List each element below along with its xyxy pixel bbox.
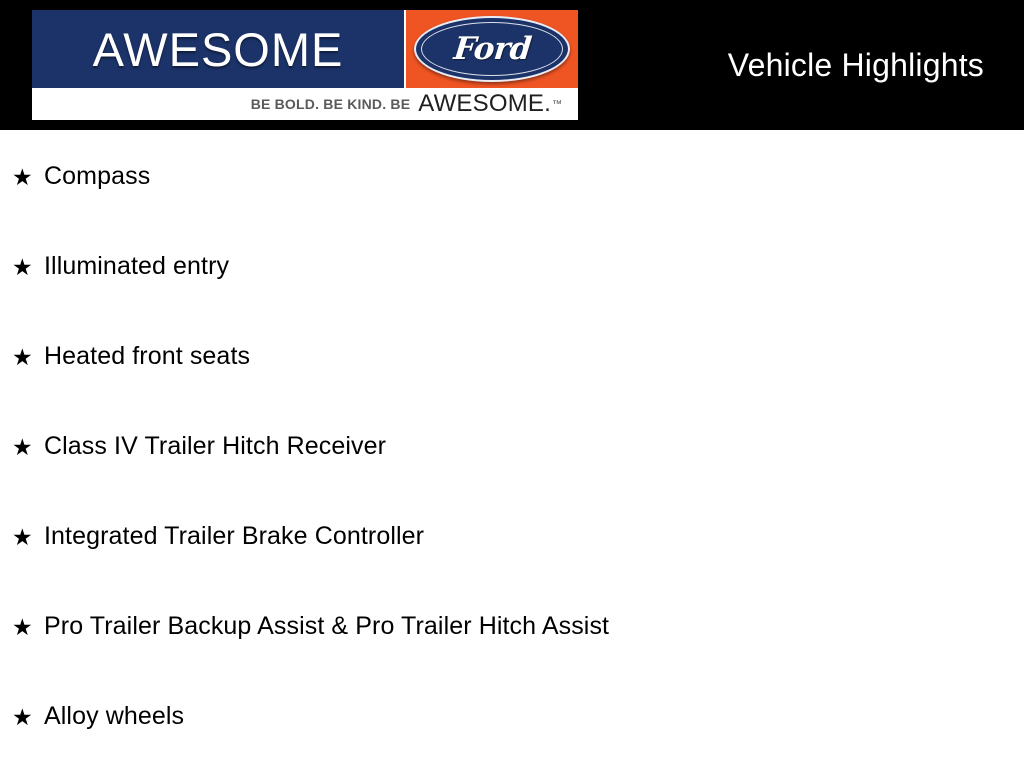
ford-oval-icon: Ford [406,10,578,88]
logo-brand-word: AWESOME [32,10,404,88]
tagline-emphasis-text: AWESOME. [418,90,551,118]
highlight-label: Heated front seats [44,343,250,371]
logo-top-band: AWESOME Ford [32,10,578,88]
list-item: ★Integrated Trailer Brake Controller [12,520,1012,554]
list-item: ★Class IV Trailer Hitch Receiver [12,430,1012,464]
star-bullet-icon: ★ [12,166,44,189]
highlight-label: Illuminated entry [44,253,229,281]
page-title: Vehicle Highlights [600,0,1004,130]
vehicle-highlights-list: ★Compass★Illuminated entry★Heated front … [0,130,1024,768]
slide-root: AWESOME Ford BE BOLD. BE KIND. BE AWESOM… [0,0,1024,768]
list-item: ★Illuminated entry [12,250,1012,284]
header-bar: AWESOME Ford BE BOLD. BE KIND. BE AWESOM… [0,0,1024,130]
star-bullet-icon: ★ [12,706,44,729]
ford-oval-shape: Ford [414,16,570,82]
list-item: ★Pro Trailer Backup Assist & Pro Trailer… [12,610,1012,644]
dealer-logo[interactable]: AWESOME Ford BE BOLD. BE KIND. BE AWESOM… [32,10,578,120]
list-item: ★Alloy wheels [12,700,1012,734]
highlight-label: Compass [44,163,150,191]
star-bullet-icon: ★ [12,616,44,639]
star-bullet-icon: ★ [12,256,44,279]
highlight-label: Class IV Trailer Hitch Receiver [44,433,386,461]
highlight-label: Alloy wheels [44,703,184,731]
ford-wordmark: Ford [452,34,532,65]
list-item: ★Heated front seats [12,340,1012,374]
star-bullet-icon: ★ [12,346,44,369]
star-bullet-icon: ★ [12,526,44,549]
tagline-lead-text: BE BOLD. BE KIND. BE [251,96,411,112]
highlight-label: Pro Trailer Backup Assist & Pro Trailer … [44,613,609,641]
trademark-icon: ™ [552,99,562,110]
logo-tagline: BE BOLD. BE KIND. BE AWESOME. ™ [32,88,578,120]
list-item: ★Compass [12,160,1012,194]
star-bullet-icon: ★ [12,436,44,459]
highlight-label: Integrated Trailer Brake Controller [44,523,424,551]
